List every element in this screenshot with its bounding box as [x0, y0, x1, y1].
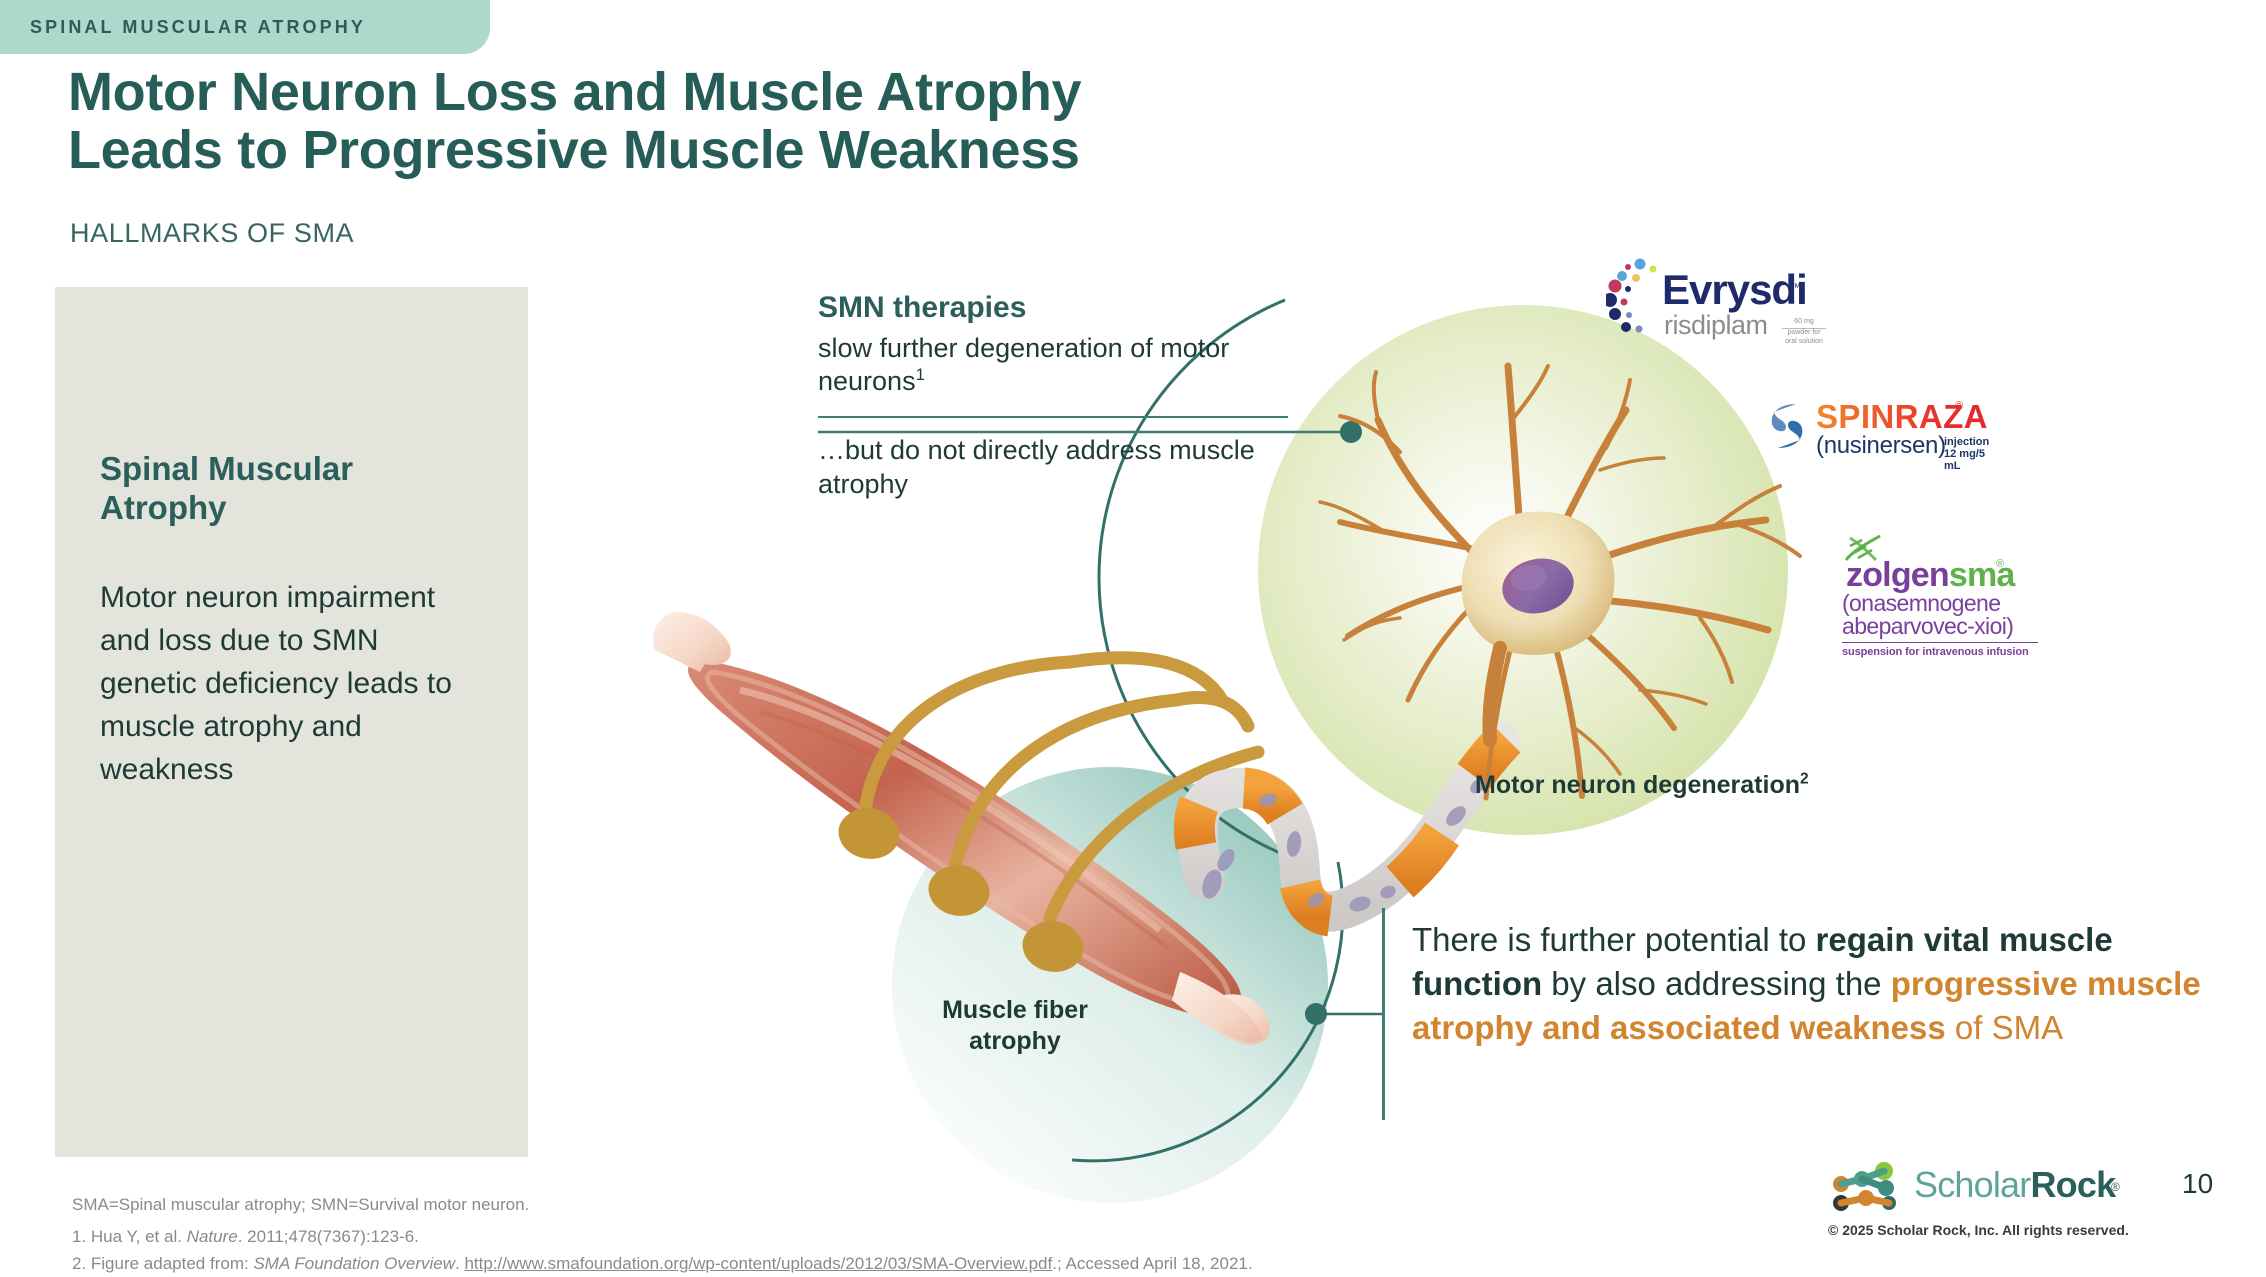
spinraza-reg: ® — [1955, 400, 1963, 412]
footnote-abbreviations: SMA=Spinal muscular atrophy; SMN=Surviva… — [72, 1192, 1253, 1218]
label-motor-neuron-ref: 2 — [1800, 771, 1809, 788]
evrysdi-logo: Evrysdi ™ risdiplam 60 mg powder for ora… — [1606, 258, 1816, 350]
label-motor-neuron-degeneration: Motor neuron degeneration2 — [1475, 770, 1809, 801]
spinraza-logo: SPINRAZA ® (nusinersen) injection 12 mg/… — [1762, 398, 2002, 468]
bottom-callout-orange-tail: of SMA — [1946, 1009, 2063, 1046]
evrysdi-dose-line1: 60 mg — [1782, 318, 1826, 329]
spinraza-dose-line1: injection — [1944, 436, 2002, 448]
zolgensma-generic: (onasemnogene abeparvovec-xioi) — [1842, 592, 2013, 638]
zolgensma-route: suspension for intravenous infusion — [1842, 646, 2029, 658]
label-motor-neuron-text: Motor neuron degeneration — [1475, 771, 1800, 799]
bottom-callout-bar — [1382, 908, 1385, 1120]
scholar-rock-wordmark: ScholarRock — [1914, 1164, 2115, 1206]
definition-panel: Spinal Muscular Atrophy Motor neuron imp… — [55, 287, 528, 1157]
footnote-2-pre: 2. Figure adapted from: — [72, 1254, 253, 1273]
slide-canvas: SPINAL MUSCULAR ATROPHY Motor Neuron Los… — [0, 0, 2266, 1264]
spinraza-dose-line2: 12 mg/5 mL — [1944, 448, 2002, 472]
title-line-2: Leads to Progressive Muscle Weakness — [68, 121, 1468, 179]
footnote-1-pre: 1. Hua Y, et al. — [72, 1227, 187, 1246]
zolgensma-generic-line2: abeparvovec-xioi) — [1842, 615, 2013, 638]
evrysdi-brand: Evrysdi — [1662, 266, 1807, 314]
page-title: Motor Neuron Loss and Muscle Atrophy Lea… — [68, 63, 1468, 180]
zolgensma-generic-line1: (onasemnogene — [1842, 592, 2013, 615]
evrysdi-tm: ™ — [1790, 282, 1801, 294]
spinraza-generic: (nusinersen) — [1816, 432, 1946, 460]
footnote-ref-1: 1. Hua Y, et al. Nature. 2011;478(7367):… — [72, 1224, 1253, 1250]
definition-heading: Spinal Muscular Atrophy — [100, 450, 460, 528]
footnotes: SMA=Spinal muscular atrophy; SMN=Surviva… — [72, 1192, 1253, 1277]
spinraza-dose: injection 12 mg/5 mL — [1944, 436, 2002, 472]
scholar-rock-bold: Rock — [2030, 1164, 2115, 1205]
scholar-rock-reg: ® — [2111, 1180, 2120, 1194]
zolgensma-brand-green: sma — [1949, 556, 2015, 594]
bottom-callout: There is further potential to regain vit… — [1412, 918, 2202, 1050]
scholar-rock-light: Scholar — [1914, 1164, 2030, 1205]
label-muscle-fiber-atrophy: Muscle fiber atrophy — [900, 995, 1130, 1056]
bottom-callout-part2: by also addressing the — [1542, 965, 1891, 1002]
evrysdi-dots-icon — [1606, 258, 1662, 350]
smn-heading: SMN therapies — [818, 290, 1288, 326]
smn-subhead-ref: 1 — [916, 365, 925, 384]
evrysdi-dose: 60 mg powder for oral solution — [1782, 318, 1826, 346]
footnote-2-post: .; Accessed April 18, 2021. — [1052, 1254, 1252, 1273]
title-line-1: Motor Neuron Loss and Muscle Atrophy — [68, 63, 1468, 121]
evrysdi-generic: risdiplam — [1664, 310, 1768, 341]
zolgensma-reg: ® — [1996, 558, 2004, 570]
copyright-notice: © 2025 Scholar Rock, Inc. All rights res… — [1828, 1222, 2129, 1238]
eyebrow-tab: SPINAL MUSCULAR ATROPHY — [0, 0, 490, 54]
evrysdi-dose-line2: powder for oral solution — [1782, 329, 1826, 347]
page-number: 10 — [2182, 1168, 2213, 1200]
bottom-callout-part1: There is further potential to — [1412, 921, 1816, 958]
zolgensma-divider — [1842, 642, 2038, 643]
footnote-2-italic: SMA Foundation Overview — [253, 1254, 455, 1273]
footnote-1-italic: Nature — [187, 1227, 238, 1246]
page-subtitle: HALLMARKS OF SMA — [70, 218, 354, 249]
zolgensma-brand-purple: zolgen — [1846, 556, 1949, 594]
zolgensma-logo: zolgensma ® (onasemnogene abeparvovec-xi… — [1836, 536, 2046, 666]
scholar-rock-logo: ScholarRock ® — [1828, 1162, 2128, 1212]
footnote-1-post: . 2011;478(7367):123-6. — [238, 1227, 419, 1246]
smn-subhead-text: slow further degeneration of motor neuro… — [818, 333, 1229, 396]
spinraza-swirl-icon — [1762, 398, 1812, 456]
smn-divider — [818, 416, 1288, 418]
smn-subhead: slow further degeneration of motor neuro… — [818, 332, 1288, 398]
smn-therapies-callout: SMN therapies slow further degeneration … — [818, 290, 1288, 501]
definition-body: Motor neuron impairment and loss due to … — [100, 577, 470, 791]
scholar-rock-mark-icon — [1828, 1162, 1906, 1212]
footnote-2-url[interactable]: http://www.smafoundation.org/wp-content/… — [464, 1254, 1052, 1273]
eyebrow-label: SPINAL MUSCULAR ATROPHY — [0, 17, 366, 38]
smn-note: …but do not directly address muscle atro… — [818, 434, 1288, 500]
